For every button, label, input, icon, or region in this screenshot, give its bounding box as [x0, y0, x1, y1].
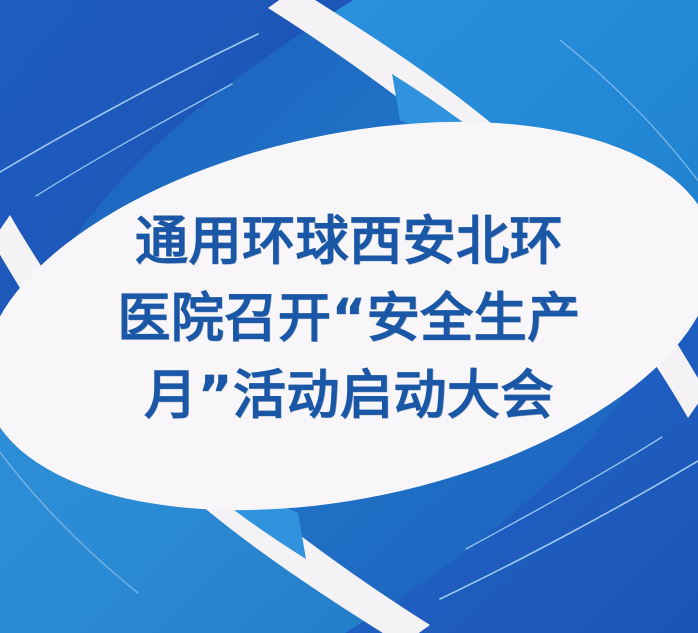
- poster-canvas: 通用环球西安北环 医院召开“安全生产 月”活动启动大会: [0, 0, 698, 633]
- background-graphic: [0, 0, 698, 633]
